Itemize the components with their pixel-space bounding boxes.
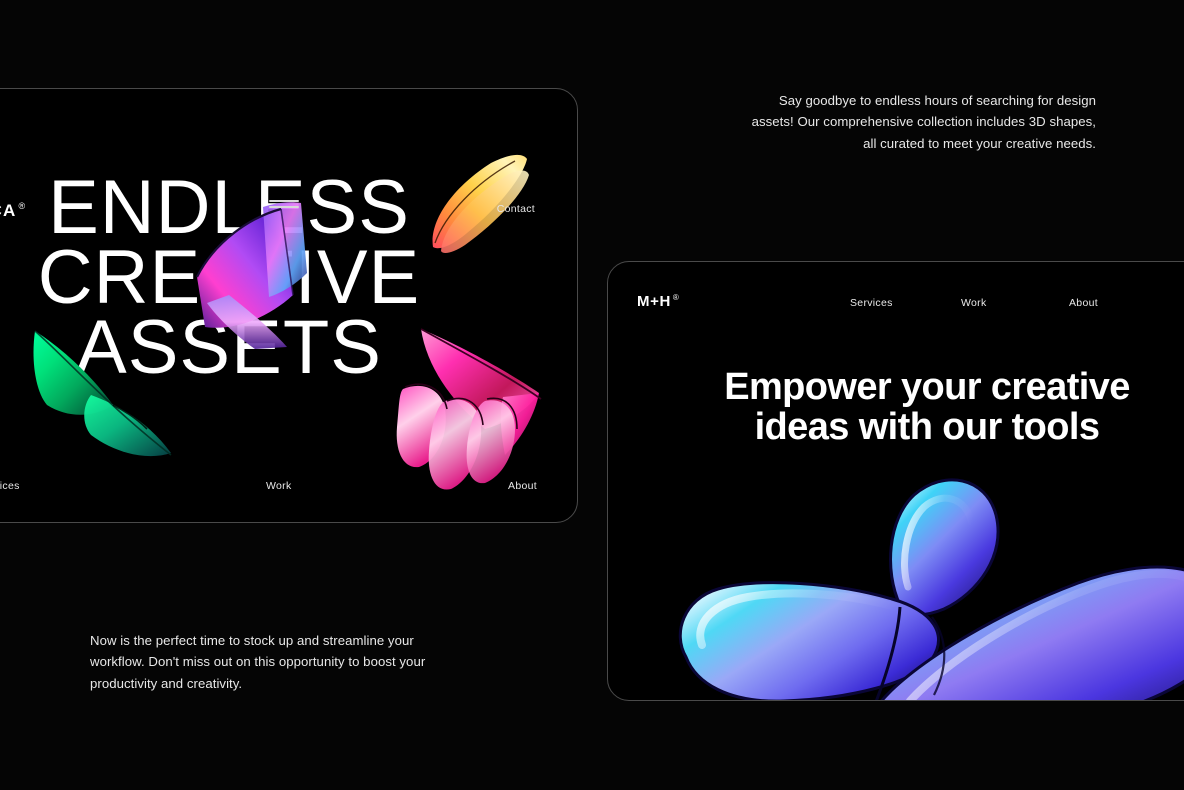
brand-logo-mh[interactable]: M+H® [637, 293, 679, 310]
hamburger-bar [269, 206, 299, 208]
hero-card: ECA® Contact ENDLESS CREATIVE ASSETS [0, 88, 578, 523]
hamburger-icon[interactable] [269, 197, 299, 211]
tools-heading-line-2: ideas with our tools [608, 407, 1184, 447]
nav-item-services[interactable]: Services [850, 297, 893, 309]
tools-heading: Empower your creative ideas with our too… [608, 367, 1184, 448]
page-root: ECA® Contact ENDLESS CREATIVE ASSETS [0, 0, 1184, 790]
hero-footer-nav: Services Work About [0, 462, 577, 522]
hamburger-bar [269, 200, 299, 202]
headline-line-3: ASSETS [0, 313, 577, 383]
intro-paragraph-top-right: Say goodbye to endless hours of searchin… [746, 90, 1096, 154]
brand-logo-eca[interactable]: ECA® [0, 201, 26, 221]
brand-logo-text: ECA [0, 201, 17, 220]
hero-nav-services[interactable]: Services [0, 480, 20, 492]
nav-item-work[interactable]: Work [961, 297, 987, 309]
hero-nav-about[interactable]: About [508, 480, 537, 492]
tools-card: M+H® Services Work About Empower your cr… [607, 261, 1184, 701]
tools-heading-line-1: Empower your creative [608, 367, 1184, 407]
brand-logo-text: M+H [637, 293, 671, 310]
intro-paragraph-bottom-left: Now is the perfect time to stock up and … [90, 630, 462, 694]
registered-mark-icon: ® [19, 201, 27, 211]
registered-mark-icon: ® [673, 293, 680, 302]
contact-link[interactable]: Contact [497, 203, 535, 215]
nav-item-about[interactable]: About [1069, 297, 1098, 309]
purple-cone-shape [189, 199, 319, 349]
hero-nav-work[interactable]: Work [266, 480, 292, 492]
blue-iridescent-shape [648, 467, 1184, 701]
green-leaf-shape [29, 319, 191, 469]
headline-line-2: CREATIVE [0, 243, 577, 313]
